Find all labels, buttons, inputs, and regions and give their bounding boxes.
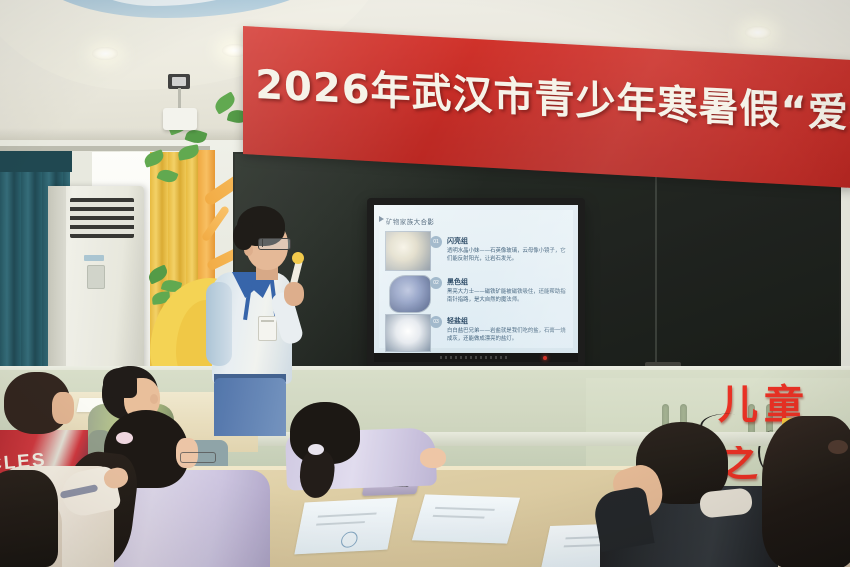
downlight-icon	[745, 26, 771, 39]
downlight-icon	[92, 47, 118, 60]
student-face	[52, 392, 74, 424]
air-conditioner-vent	[70, 198, 134, 238]
presenter-sleeve	[206, 282, 232, 366]
security-camera-icon	[168, 74, 190, 89]
glasses-bridge	[262, 239, 263, 247]
worksheet-paper	[412, 494, 520, 543]
wall-mounted-device	[163, 108, 197, 130]
mount-bracket	[178, 88, 181, 110]
presenter-hand	[284, 282, 304, 306]
smart-board-power-led	[543, 356, 547, 360]
worksheet-paper	[294, 498, 397, 555]
presenter-id-badge	[258, 316, 277, 341]
smart-board-glare	[374, 205, 578, 353]
air-conditioner-display	[87, 265, 105, 289]
presenter-hair-side	[233, 222, 253, 250]
hair-tie	[308, 444, 324, 455]
hair-tie	[828, 440, 848, 454]
hair-tie	[116, 432, 133, 444]
student-ear	[150, 394, 158, 404]
glasses-icon	[180, 452, 216, 463]
chalkboard-seam	[655, 154, 657, 368]
student-hair	[0, 470, 58, 567]
student-hand	[420, 448, 446, 468]
microphone-head	[292, 252, 304, 264]
smart-board-speaker-grill	[440, 356, 510, 359]
student-hair	[762, 416, 850, 567]
presenter-pants	[214, 378, 286, 436]
student-hair-top	[103, 368, 137, 398]
classroom-photo: 矿物家族大合影 01 闪亮组 透明水晶小妹——石英像玻璃，云母像小镜子，它们能反…	[0, 0, 850, 567]
air-conditioner-logo	[84, 255, 104, 261]
